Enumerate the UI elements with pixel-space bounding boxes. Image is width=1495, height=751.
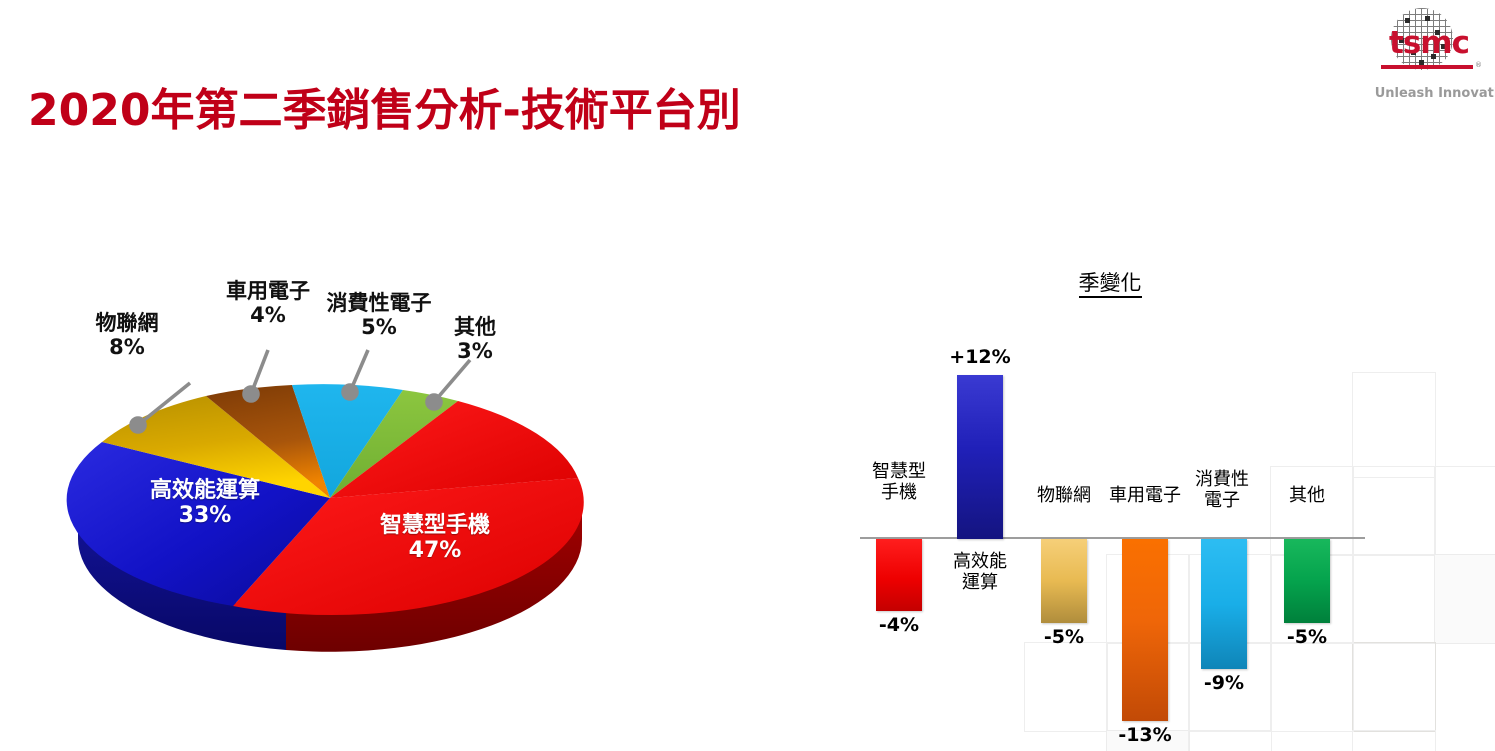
bar-iot[interactable]: [1041, 539, 1087, 623]
pie-callout-iot: 物聯網 8%: [62, 312, 192, 359]
bar-category-hpc: 高效能運算: [940, 552, 1020, 593]
quarterly-change-chart: 季變化 智慧型手機 -4% +12% 高效能運算 物聯網 -5% 車用電子 -1…: [840, 250, 1380, 750]
pie-label-smartphone-value: 47%: [345, 538, 525, 563]
bar-smartphone[interactable]: [876, 539, 922, 611]
ghost-grid-cell: [1434, 554, 1495, 644]
bar-hpc[interactable]: [957, 375, 1003, 539]
bar-value-hpc: +12%: [940, 346, 1020, 368]
pie-callout-others-value: 3%: [420, 340, 530, 364]
pie-label-smartphone-name: 智慧型手機: [345, 513, 525, 538]
pie-label-smartphone: 智慧型手機 47%: [345, 513, 525, 564]
bar-category-smartphone: 智慧型手機: [860, 462, 938, 503]
pie-callout-consumer-name: 消費性電子: [304, 292, 454, 316]
bar-others[interactable]: [1284, 539, 1330, 623]
bar-value-automotive: -13%: [1108, 724, 1182, 746]
tsmc-tagline: Unleash Innovati: [1369, 86, 1495, 101]
pie-chart: 物聯網 8% 車用電子 4% 消費性電子 5% 其他 3% 高效能運算 33% …: [20, 250, 640, 700]
pie-callout-others: 其他 3%: [420, 316, 530, 363]
pie-label-hpc-name: 高效能運算: [120, 478, 290, 503]
bar-chart-heading: 季變化: [840, 267, 1380, 297]
bar-chart-heading-text: 季變化: [1079, 271, 1142, 298]
bar-consumer[interactable]: [1201, 539, 1247, 669]
pie-callout-others-name: 其他: [420, 316, 530, 340]
tsmc-logo: tsmc ® Unleash Innovati: [1363, 6, 1495, 106]
bar-value-consumer: -9%: [1190, 672, 1258, 694]
tsmc-underline: [1381, 65, 1473, 69]
pie-callout-iot-name: 物聯網: [62, 312, 192, 336]
ghost-grid-cell: [1434, 466, 1495, 556]
bar-category-consumer: 消費性電子: [1180, 470, 1264, 511]
tsmc-wordmark: tsmc: [1369, 28, 1489, 59]
page-title: 2020年第二季銷售分析-技術平台別: [28, 74, 741, 138]
trademark-icon: ®: [1475, 61, 1482, 69]
bar-value-others: -5%: [1273, 626, 1341, 648]
pie-label-hpc-value: 33%: [120, 503, 290, 528]
bar-value-smartphone: -4%: [866, 614, 932, 636]
pie-callout-iot-value: 8%: [62, 336, 192, 360]
bar-automotive[interactable]: [1122, 539, 1168, 721]
bar-value-iot: -5%: [1030, 626, 1098, 648]
bar-category-others: 其他: [1265, 486, 1349, 507]
slide-canvas: tsmc ® Unleash Innovati 2020年第二季銷售分析-技術平…: [0, 0, 1495, 751]
pie-label-hpc: 高效能運算 33%: [120, 478, 290, 529]
